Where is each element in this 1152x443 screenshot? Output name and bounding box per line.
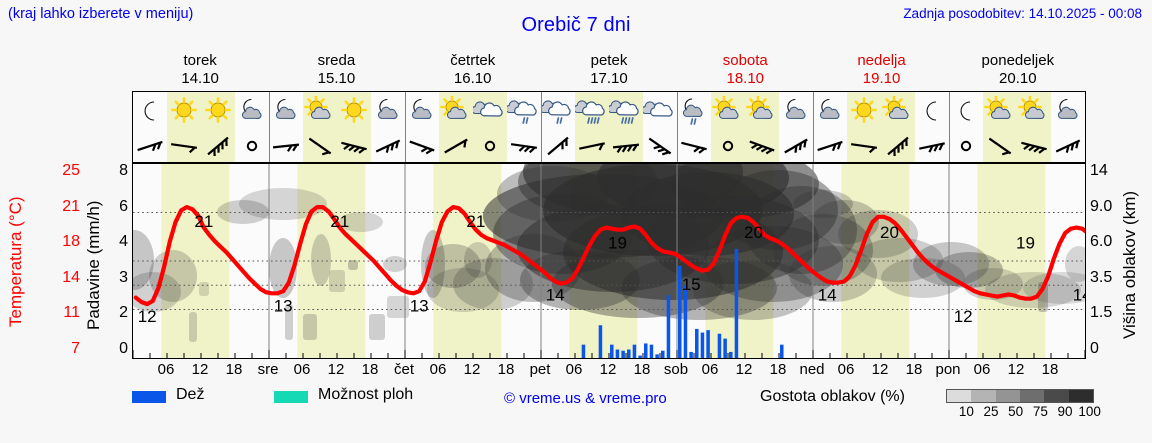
x-tick-label: 06 <box>158 361 175 378</box>
cloud-icon <box>643 96 677 126</box>
x-tick-label: 18 <box>906 361 923 378</box>
x-tick-label: 12 <box>600 361 617 378</box>
moon-cloud-icon <box>813 96 847 126</box>
wind-barb-icon <box>1017 130 1051 160</box>
rain-legend-label: Dež <box>176 386 204 404</box>
x-tick-label: 18 <box>634 361 651 378</box>
axis-tick: 9.0 <box>1090 198 1112 216</box>
wind-barb-icon <box>541 130 575 160</box>
day-header-sreda: sreda15.10 <box>268 52 404 90</box>
wind-barb-icon <box>677 130 711 160</box>
day-header-petek: petek17.10 <box>541 52 677 90</box>
axis-tick: 1.5 <box>1090 304 1112 322</box>
svg-text:15: 15 <box>682 275 701 294</box>
cloud-density-step-75 <box>1020 390 1044 402</box>
forecast-slot-17 <box>711 92 745 162</box>
forecast-slot-16 <box>677 92 711 162</box>
x-tick-label: 18 <box>362 361 379 378</box>
forecast-slot-10 <box>473 92 507 162</box>
day-date: 18.10 <box>677 70 813 88</box>
day-date: 14.10 <box>132 70 268 88</box>
x-tick-label: ned <box>799 361 824 378</box>
wind-barb-icon <box>371 130 405 160</box>
day-header-torek: torek14.10 <box>132 52 268 90</box>
x-tick-label: 18 <box>1042 361 1059 378</box>
forecast-slot-24 <box>949 92 983 162</box>
axis-tick: 25 <box>62 162 80 180</box>
x-tick-label: 18 <box>226 361 243 378</box>
forecast-slot-21 <box>847 92 881 162</box>
axis-tick: 11 <box>63 304 80 322</box>
axis-tick: 8 <box>119 162 128 180</box>
day-separator <box>269 92 270 162</box>
forecast-slot-8 <box>405 92 439 162</box>
axis-tick: 7 <box>71 340 80 358</box>
wind-barb-icon <box>235 130 269 160</box>
wind-barb-icon <box>133 130 167 160</box>
forecast-slot-27 <box>1051 92 1085 162</box>
day-name: sobota <box>677 52 813 70</box>
copyright-link[interactable]: © vreme.us & vreme.pro <box>504 390 667 407</box>
wind-barb-icon <box>303 130 337 160</box>
cloud-density-label: 50 <box>1008 404 1023 419</box>
wind-barb-icon <box>1051 130 1085 160</box>
wind-barb-icon <box>201 130 235 160</box>
sun-cloud-icon <box>439 96 473 126</box>
wind-barb-icon <box>643 130 677 160</box>
x-axis-tick-labels: 061218sre061218čet061218pet061218sob0612… <box>132 361 1086 381</box>
cloud-density-step-50 <box>996 390 1020 402</box>
x-tick-label: 12 <box>1008 361 1025 378</box>
forecast-slot-22 <box>881 92 915 162</box>
axis-tick: 2 <box>119 304 128 322</box>
day-name: petek <box>541 52 677 70</box>
sun-cloud-icon <box>1017 96 1051 126</box>
precipitation-axis-ticks: 864320 <box>108 163 128 359</box>
x-tick-label: 12 <box>192 361 209 378</box>
sun-icon <box>337 96 371 126</box>
svg-text:19: 19 <box>1016 234 1035 253</box>
wind-barb-icon <box>745 130 779 160</box>
axis-tick: 14 <box>62 269 80 287</box>
forecast-slot-26 <box>1017 92 1051 162</box>
svg-text:20: 20 <box>880 223 899 242</box>
forecast-slot-13 <box>575 92 609 162</box>
forecast-slot-20 <box>813 92 847 162</box>
last-update-text: Zadnja posodobitev: 14.10.2025 - 00:08 <box>903 6 1142 21</box>
svg-text:13: 13 <box>410 296 429 315</box>
wind-barb-icon <box>167 130 201 160</box>
x-tick-label: 06 <box>974 361 991 378</box>
x-tick-label: 12 <box>736 361 753 378</box>
forecast-slot-2 <box>201 92 235 162</box>
x-tick-label: 06 <box>294 361 311 378</box>
moon-cloud-icon <box>405 96 439 126</box>
axis-tick: 0 <box>119 340 128 358</box>
day-header: torek14.10sreda15.10četrtek16.10petek17.… <box>132 52 1086 90</box>
cloud-density-step-25 <box>971 390 995 402</box>
weather-icon-strip <box>132 91 1086 163</box>
forecast-slot-19 <box>779 92 813 162</box>
forecast-slot-25 <box>983 92 1017 162</box>
day-date: 16.10 <box>405 70 541 88</box>
x-tick-label: 06 <box>566 361 583 378</box>
day-date: 15.10 <box>268 70 404 88</box>
sun-icon <box>201 96 235 126</box>
x-tick-label: pon <box>935 361 960 378</box>
svg-text:21: 21 <box>466 212 485 231</box>
shower-legend-label: Možnost ploh <box>318 386 413 404</box>
axis-tick: 3 <box>119 269 128 287</box>
day-separator <box>677 92 678 162</box>
moon-icon <box>949 96 983 126</box>
cloud-icon <box>473 96 507 126</box>
cloud-density-label: 25 <box>983 404 998 419</box>
forecast-slot-18 <box>745 92 779 162</box>
forecast-plot: 122113211321141915201420121914 <box>132 163 1086 359</box>
forecast-slot-1 <box>167 92 201 162</box>
moon-cloud-icon <box>235 96 269 126</box>
sun-icon <box>167 96 201 126</box>
forecast-slot-4 <box>269 92 303 162</box>
x-tick-label: 06 <box>430 361 447 378</box>
day-separator <box>949 92 950 162</box>
wind-barb-icon <box>779 130 813 160</box>
axis-tick: 3.5 <box>1090 269 1112 287</box>
day-header-ponedeljek: ponedeljek20.10 <box>950 52 1086 90</box>
moon-icon <box>915 96 949 126</box>
day-date: 17.10 <box>541 70 677 88</box>
wind-barb-icon <box>575 130 609 160</box>
temperature-axis-ticks: 25211814117 <box>36 163 80 359</box>
wind-barb-icon <box>269 130 303 160</box>
svg-text:14: 14 <box>818 286 837 305</box>
wind-barb-icon <box>915 130 949 160</box>
axis-tick: 6 <box>119 198 128 216</box>
wind-barb-icon <box>711 130 745 160</box>
cloud-height-axis-ticks: 149.06.03.51.50 <box>1090 163 1128 359</box>
moon-icon <box>133 96 167 126</box>
x-tick-label: 12 <box>328 361 345 378</box>
wind-barb-icon <box>405 130 439 160</box>
sun-cloud-icon <box>881 96 915 126</box>
axis-tick: 0 <box>1090 340 1099 358</box>
cloud-density-step-100 <box>1069 390 1093 402</box>
forecast-slot-0 <box>133 92 167 162</box>
svg-text:14: 14 <box>546 286 565 305</box>
day-name: torek <box>132 52 268 70</box>
cloud-density-scale <box>946 389 1094 403</box>
cloud-rain-heavy-icon <box>609 96 643 126</box>
cloud-rain-icon <box>507 96 541 126</box>
forecast-slot-5 <box>303 92 337 162</box>
cloud-rain-heavy-icon <box>575 96 609 126</box>
x-tick-label: 12 <box>464 361 481 378</box>
axis-tick: 14 <box>1090 162 1108 180</box>
day-name: ponedeljek <box>950 52 1086 70</box>
forecast-slot-6 <box>337 92 371 162</box>
wind-barb-icon <box>813 130 847 160</box>
wind-barb-icon <box>609 130 643 160</box>
day-date: 20.10 <box>950 70 1086 88</box>
forecast-slot-11 <box>507 92 541 162</box>
moon-cloud-icon <box>779 96 813 126</box>
wind-barb-icon <box>983 130 1017 160</box>
cloud-density-label: 100 <box>1078 404 1101 419</box>
day-separator <box>541 92 542 162</box>
cloud-density-scale-labels: 1025507590100 <box>938 404 1102 420</box>
svg-text:19: 19 <box>608 234 627 253</box>
wind-barb-icon <box>847 130 881 160</box>
sun-icon <box>847 96 881 126</box>
wind-barb-icon <box>507 130 541 160</box>
moon-cloud-icon <box>371 96 405 126</box>
svg-text:12: 12 <box>138 307 157 326</box>
precipitation-axis-title: Padavine (mm/h) <box>84 172 110 358</box>
cloud-density-step-10 <box>947 390 971 402</box>
x-tick-label: sob <box>664 361 688 378</box>
forecast-slot-14 <box>609 92 643 162</box>
forecast-slot-23 <box>915 92 949 162</box>
forecast-slot-9 <box>439 92 473 162</box>
day-date: 19.10 <box>813 70 949 88</box>
svg-text:13: 13 <box>274 296 293 315</box>
day-header-četrtek: četrtek16.10 <box>405 52 541 90</box>
svg-text:21: 21 <box>194 212 213 231</box>
wind-barb-icon <box>337 130 371 160</box>
wind-barb-icon <box>439 130 473 160</box>
moon-cloud-rain-icon <box>677 96 711 126</box>
svg-text:20: 20 <box>744 223 763 242</box>
day-separator <box>405 92 406 162</box>
x-tick-label: 18 <box>498 361 515 378</box>
moon-cloud-icon <box>1051 96 1085 126</box>
axis-tick: 18 <box>62 233 80 251</box>
cloud-rain-icon <box>541 96 575 126</box>
x-tick-label: 06 <box>838 361 855 378</box>
temperature-axis-title: Temperatura (°C) <box>6 176 32 348</box>
x-tick-label: sre <box>258 361 279 378</box>
x-tick-label: 06 <box>702 361 719 378</box>
axis-tick: 4 <box>119 233 128 251</box>
svg-text:12: 12 <box>954 307 973 326</box>
cloud-density-label: 90 <box>1057 404 1072 419</box>
rain-legend-swatch <box>132 391 166 403</box>
day-name: nedelja <box>813 52 949 70</box>
day-header-nedelja: nedelja19.10 <box>813 52 949 90</box>
cloud-density-step-90 <box>1044 390 1068 402</box>
forecast-slot-3 <box>235 92 269 162</box>
x-tick-label: 18 <box>770 361 787 378</box>
sun-cloud-icon <box>983 96 1017 126</box>
moon-cloud-icon <box>269 96 303 126</box>
axis-tick: 6.0 <box>1090 233 1112 251</box>
day-name: četrtek <box>405 52 541 70</box>
day-name: sreda <box>268 52 404 70</box>
legend: Dež Možnost ploh © vreme.us & vreme.pro … <box>0 386 1152 420</box>
forecast-slot-15 <box>643 92 677 162</box>
cloud-density-label: 10 <box>959 404 974 419</box>
day-separator <box>813 92 814 162</box>
x-tick-label: 12 <box>872 361 889 378</box>
day-header-sobota: sobota18.10 <box>677 52 813 90</box>
forecast-slot-7 <box>371 92 405 162</box>
wind-barb-icon <box>473 130 507 160</box>
cloud-density-legend-title: Gostota oblakov (%) <box>760 388 905 406</box>
svg-text:21: 21 <box>330 212 349 231</box>
sun-cloud-icon <box>711 96 745 126</box>
shower-legend-swatch <box>274 391 308 403</box>
axis-tick: 21 <box>62 198 80 216</box>
wind-barb-icon <box>949 130 983 160</box>
x-tick-label: čet <box>394 361 414 378</box>
svg-text:14: 14 <box>1073 286 1085 305</box>
sun-cloud-icon <box>745 96 779 126</box>
cloud-density-label: 75 <box>1033 404 1048 419</box>
forecast-slot-12 <box>541 92 575 162</box>
wind-barb-icon <box>881 130 915 160</box>
sun-cloud-icon <box>303 96 337 126</box>
x-tick-label: pet <box>530 361 551 378</box>
